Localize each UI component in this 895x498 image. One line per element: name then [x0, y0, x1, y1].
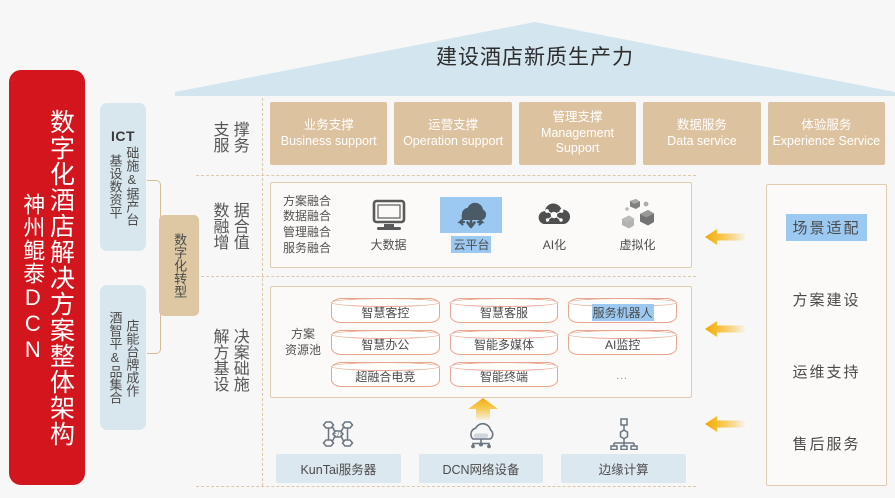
resource-pool-item-label: AI监控 — [604, 336, 641, 353]
resource-pool-item-label: … — [615, 368, 631, 382]
support-card-cn: 管理支撑 — [553, 110, 603, 126]
monitor-icon — [372, 197, 406, 233]
fusion-text-line: 管理融合 — [283, 225, 331, 241]
support-card-en: Experience Service — [772, 134, 880, 150]
row-label-support-left: 支服 — [209, 121, 228, 153]
resource-pool-item-label: 超融合电竞 — [354, 368, 416, 385]
row-label-fusion-right: 据合值 — [230, 202, 249, 250]
divider-horizontal-support — [196, 175, 696, 176]
row-label-solution-right: 决案础施 — [230, 328, 249, 392]
support-service-card-3[interactable]: 管理支撑Management Support — [519, 102, 636, 165]
right-services-list: 场景适配方案建设运维支持售后服务 — [767, 185, 886, 485]
resource-pool-item-6[interactable]: AI监控 — [568, 330, 677, 355]
row-label-solution: 决案础施 解方基设 — [200, 300, 258, 420]
resource-pool-label-line: 资源池 — [285, 342, 321, 358]
data-fusion-panel: 方案融合数据融合管理融合服务融合 大数据云平台AI化虚拟化 — [270, 182, 692, 268]
right-services-panel: 场景适配方案建设运维支持售后服务 — [766, 184, 887, 486]
resource-pool-item-3[interactable]: 服务机器人 — [568, 298, 677, 323]
infrastructure-item-2[interactable]: DCN网络设备 — [419, 418, 544, 486]
resource-pool-item-label: 智能多媒体 — [473, 336, 535, 353]
support-card-cn: 运营支撑 — [428, 118, 478, 134]
fusion-text-line: 服务融合 — [283, 241, 331, 257]
brand-subtitle: 神州鲲泰DCN — [19, 193, 44, 363]
divider-horizontal-bottom — [196, 486, 696, 487]
resource-pool-item-8[interactable]: 智能终端 — [450, 362, 559, 387]
infrastructure-item-label: DCN网络设备 — [419, 454, 544, 483]
fusion-text-lines: 方案融合数据融合管理融合服务融合 — [283, 194, 331, 256]
support-card-en: Business support — [281, 134, 377, 150]
cloud-network-icon — [463, 418, 499, 450]
brand-title: 数字化酒店解决方案整体架构 — [46, 109, 74, 447]
resource-pool-item-4[interactable]: 智慧办公 — [331, 330, 440, 355]
ict-text-right: 础施&据产台 — [124, 146, 140, 226]
left-arrow-icon-2 — [705, 320, 745, 338]
fusion-icon-list: 大数据云平台AI化虚拟化 — [347, 197, 679, 253]
resource-pool-item-1[interactable]: 智慧客控 — [331, 298, 440, 323]
resource-pool-item-label: 智慧办公 — [360, 336, 410, 353]
infrastructure-item-label: KunTai服务器 — [276, 454, 401, 483]
fusion-item-label: AI化 — [541, 236, 568, 253]
ict-tag: ICT — [111, 128, 135, 144]
right-service-item-2[interactable]: 方案建设 — [786, 286, 866, 313]
support-card-en: Data service — [667, 134, 736, 150]
right-service-item-3[interactable]: 运维支持 — [786, 358, 866, 385]
svg-text:</>: </> — [333, 432, 344, 439]
resource-pool-more: … — [568, 362, 677, 385]
resource-pool-grid: 智慧客控智慧客服服务机器人智慧办公智能多媒体AI监控超融合电竞智能终端… — [331, 298, 677, 387]
fusion-item-label: 虚拟化 — [617, 236, 657, 253]
hotel-text-left: 酒智平&品集合 — [107, 311, 123, 404]
row-label-fusion: 据合值 数融增 — [200, 190, 258, 262]
ai-cloud-icon — [536, 197, 572, 233]
resource-pool-item-label: 智能终端 — [479, 368, 529, 385]
divider-vertical-left — [262, 98, 263, 486]
support-service-card-1[interactable]: 业务支撑Business support — [270, 102, 387, 165]
support-service-row: 业务支撑Business support运营支撑Operation suppor… — [270, 102, 885, 165]
left-box-hotel-platform: 店能台牌成作 酒智平&品集合 — [100, 285, 146, 430]
digital-transformation-box: 数字化转型 — [159, 215, 199, 316]
fusion-text-line: 方案融合 — [283, 194, 331, 210]
resource-pool-item-5[interactable]: 智能多媒体 — [450, 330, 559, 355]
infrastructure-item-3[interactable]: 边缘计算 — [561, 418, 686, 486]
server-mesh-icon: </> — [321, 418, 355, 450]
brand-banner: 数字化酒店解决方案整体架构 神州鲲泰DCN — [9, 70, 85, 485]
support-service-card-5[interactable]: 体验服务Experience Service — [768, 102, 885, 165]
resource-pool-label-line: 方案 — [285, 326, 321, 342]
infrastructure-item-label: 边缘计算 — [561, 454, 686, 483]
fusion-text-line: 数据融合 — [283, 209, 331, 225]
resource-pool-item-label: 智慧客服 — [479, 304, 529, 321]
cubes-icon — [620, 197, 654, 233]
divider-horizontal-fusion — [196, 276, 696, 277]
resource-pool-item-7[interactable]: 超融合电竞 — [331, 362, 440, 387]
resource-pool-label: 方案资源池 — [285, 326, 321, 358]
fusion-item-2[interactable]: 云平台 — [440, 197, 502, 253]
infrastructure-item-1[interactable]: </>KunTai服务器 — [276, 418, 401, 486]
cloud-sync-icon — [440, 197, 502, 233]
fusion-item-4[interactable]: 虚拟化 — [606, 197, 668, 253]
fusion-item-3[interactable]: AI化 — [523, 197, 585, 253]
left-arrow-icon-1 — [705, 228, 745, 246]
row-label-support-right: 撑务 — [230, 121, 249, 153]
resource-pool-item-label: 智慧客控 — [360, 304, 410, 321]
left-box-ict: ICT 础施&据产台 基设数资平 — [100, 103, 146, 251]
row-label-solution-left: 解方基设 — [209, 328, 228, 392]
support-service-card-4[interactable]: 数据服务Data service — [643, 102, 760, 165]
infrastructure-row: </>KunTai服务器 DCN网络设备 边缘计算 — [276, 418, 686, 486]
hotel-text-right: 店能台牌成作 — [124, 319, 140, 397]
right-service-item-1[interactable]: 场景适配 — [786, 214, 866, 241]
fusion-item-label: 云平台 — [451, 236, 491, 253]
upward-arrow-icon — [466, 398, 500, 420]
digital-transformation-label: 数字化转型 — [171, 233, 187, 298]
fusion-item-1[interactable]: 大数据 — [358, 197, 420, 253]
support-service-card-2[interactable]: 运营支撑Operation support — [394, 102, 511, 165]
support-card-cn: 体验服务 — [801, 118, 851, 134]
ict-text-left: 基设数资平 — [107, 154, 123, 219]
resource-pool-panel: 方案资源池 智慧客控智慧客服服务机器人智慧办公智能多媒体AI监控超融合电竞智能终… — [270, 286, 692, 398]
right-service-item-4[interactable]: 售后服务 — [786, 430, 866, 457]
fusion-item-label: 大数据 — [368, 236, 408, 253]
resource-pool-item-label: 服务机器人 — [592, 304, 654, 321]
resource-pool-item-2[interactable]: 智慧客服 — [450, 298, 559, 323]
support-card-en: Operation support — [403, 134, 503, 150]
row-label-support: 撑务 支服 — [200, 106, 258, 168]
left-arrow-icon-3 — [705, 415, 745, 433]
edge-node-icon — [609, 418, 639, 450]
support-card-cn: 数据服务 — [677, 118, 727, 134]
architecture-diagram: 数字化酒店解决方案整体架构 神州鲲泰DCN 建设酒店新质生产力 ICT 础施&据… — [0, 0, 895, 498]
roof-title: 建设酒店新质生产力 — [175, 41, 895, 71]
support-card-cn: 业务支撑 — [304, 118, 354, 134]
row-label-fusion-left: 数融增 — [209, 202, 228, 250]
support-card-en: Management Support — [519, 126, 636, 157]
